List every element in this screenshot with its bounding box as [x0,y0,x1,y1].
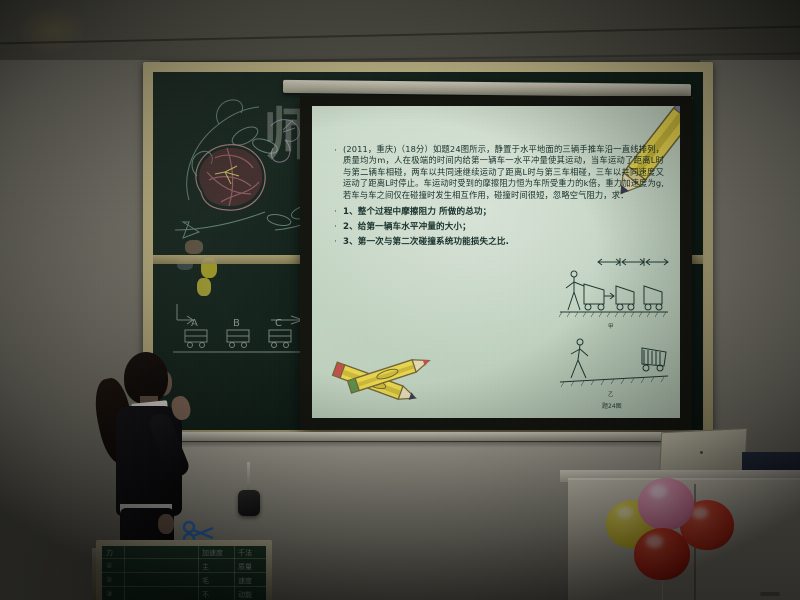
slide-bullet-main: · (2011，重庆)（18分）如题24图所示，静置于水平地面的三辆手推车沿一直… [334,144,664,201]
question-2-text: 2、给第一辆车水平冲量的大小； [343,220,471,234]
ledge-shadow [120,441,720,448]
question-1-text: 1、整个过程中摩擦阻力 所做的总功； [343,205,491,219]
small-green-chalkboard: 力 加速度 千法 ① 主 质量 ② 毛 速度 ③ 不 动能 [102,546,266,600]
pencil-bottom-left-icon-b [338,344,438,408]
bullet-marker: · [334,205,343,218]
lectern-handle[interactable] [760,592,780,596]
slide-text-block: · (2011，重庆)（18分）如题24图所示，静置于水平地面的三辆手推车沿一直… [334,144,664,250]
mini-cell-r1c1: 主 [202,562,209,572]
slide-question-2: · 2、给第一辆车水平冲量的大小； [334,220,664,234]
slide-problem-statement: (2011，重庆)（18分）如题24图所示，静置于水平地面的三辆手推车沿一直线排… [343,144,664,201]
mini-cell-r2c2: 速度 [238,576,252,586]
mini-cell-r0c2: 千法 [238,548,252,558]
figure-label: 题24图 [602,403,622,410]
mini-cell-r3c2: 动能 [238,590,252,600]
mini-cell-r0c0: 力 [106,548,113,558]
bullet-marker: · [334,235,343,248]
mini-cell-r3c0: ③ [106,590,112,598]
slide-question-1: · 1、整个过程中摩擦阻力 所做的总功； [334,205,664,219]
cart-incline-diagram: 乙 题24图 [558,334,670,412]
balloon-highlight [692,507,708,519]
wall-speaker [238,490,260,516]
ceiling-stain [16,6,86,54]
mini-cell-r2c0: ② [106,576,112,584]
ceiling-seam [0,26,800,45]
balloon-red-bottom [634,528,690,580]
balloon-highlight [617,507,633,519]
lid-latch-icon [700,451,703,454]
chalk-ledge-item-yellow2 [197,278,211,296]
chalk-ledge-item-a [185,240,203,254]
figure-caption-bottom: 乙 [608,391,614,398]
balloon-highlight [650,485,667,497]
mini-cell-r1c0: ① [106,562,112,570]
projection-screen: · (2011，重庆)（18分）如题24图所示，静置于水平地面的三辆手推车沿一直… [312,106,680,418]
speaker-mount-arm [247,462,250,492]
slide-question-list: · 1、整个过程中摩擦阻力 所做的总功； · 2、给第一辆车水平冲量的大小； ·… [334,205,664,249]
mini-cell-r3c1: 不 [202,590,209,600]
slide-question-3: · 3、第一次与第二次碰撞系统功能损失之比. [334,235,664,249]
balloon-highlight [646,535,663,547]
classroom-scene: 师 [0,0,800,600]
mini-cell-r0c1: 加速度 [202,548,223,558]
bullet-marker: · [334,220,343,233]
lowered-hand [158,514,174,534]
balloon-pink [638,478,694,530]
figure-caption-top: 甲 [608,323,614,330]
question-3-text: 3、第一次与第二次碰撞系统功能损失之比. [343,235,509,249]
mini-cell-r2c1: 毛 [202,576,209,586]
mini-cell-r1c2: 质量 [238,562,252,572]
bullet-marker: · [334,144,343,157]
